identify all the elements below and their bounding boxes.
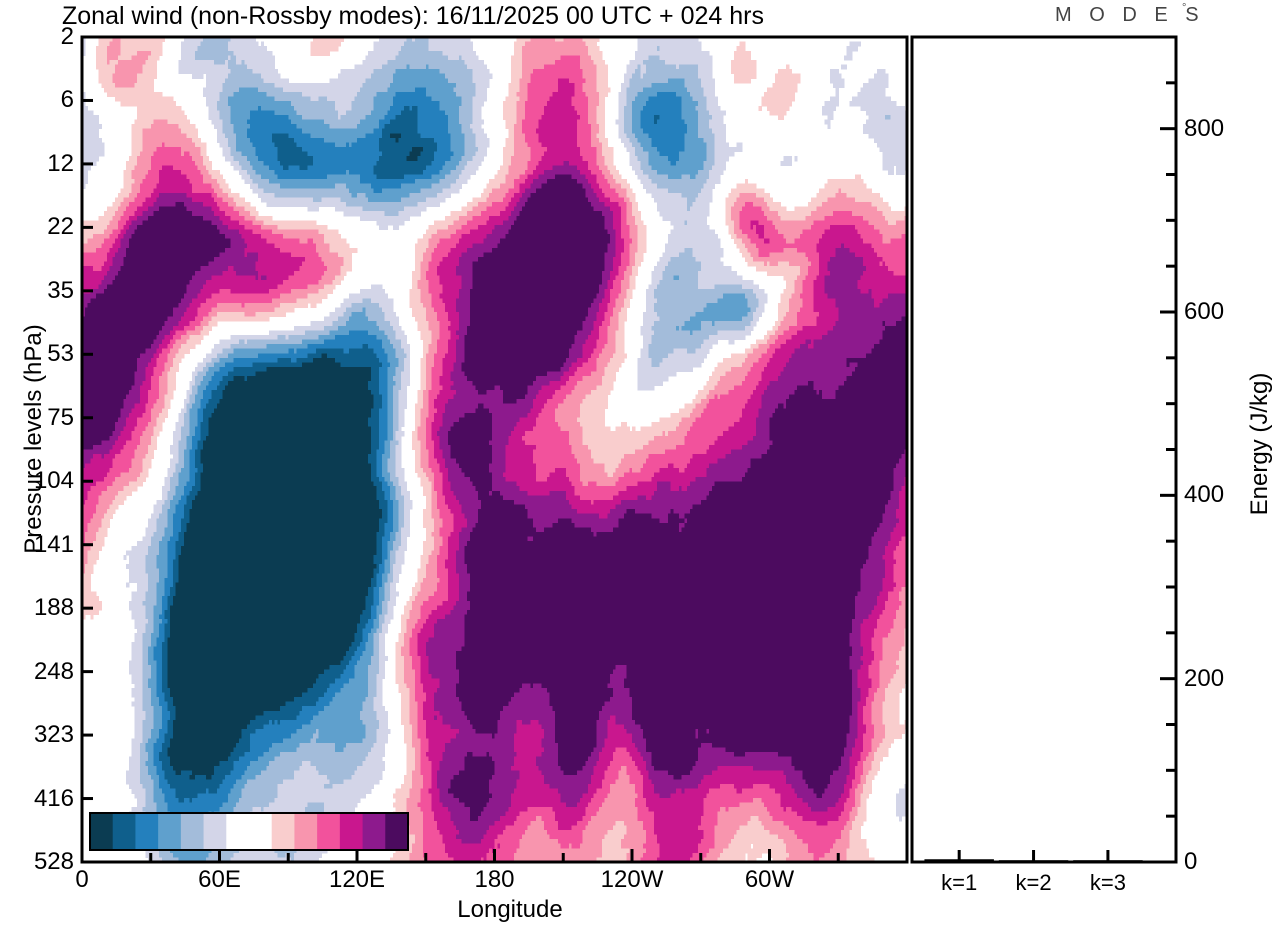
figure-canvas: Zonal wind (non-Rossby modes): 16/11/202…: [0, 0, 1280, 930]
colorbar: [90, 813, 409, 850]
contour-plot: [0, 0, 1280, 930]
